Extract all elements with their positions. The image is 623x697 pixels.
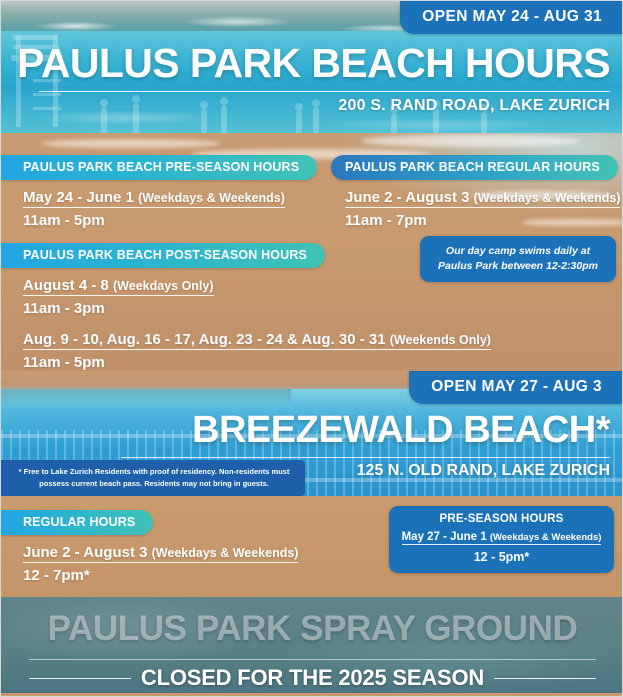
- paulus-preseason-block: PAULUS PARK BEACH PRE-SEASON HOURS May 2…: [1, 155, 317, 229]
- spray-ground-section: PAULUS PARK SPRAY GROUND CLOSED FOR THE …: [1, 597, 623, 697]
- paulus-regular-block: PAULUS PARK BEACH REGULAR HOURS June 2 -…: [331, 155, 620, 229]
- paulus-regular-pill: PAULUS PARK BEACH REGULAR HOURS: [331, 155, 618, 180]
- breezewald-hours-body: REGULAR HOURS June 2 - August 3 (Weekday…: [1, 496, 623, 597]
- breezewald-title-divider: [121, 457, 610, 458]
- paulus-postseason-block: PAULUS PARK BEACH POST-SEASON HOURS Augu…: [1, 243, 491, 371]
- breezewald-preseason-dates: May 27 - June 1 (Weekdays & Weekends): [402, 531, 602, 545]
- breezewald-treeline: [1, 389, 291, 405]
- paulus-postseason-date-range-1: August 4 - 8: [23, 277, 113, 294]
- paulus-postseason-dates-2: Aug. 9 - 10, Aug. 16 - 17, Aug. 23 - 24 …: [23, 331, 491, 350]
- paulus-page-title: PAULUS PARK BEACH HOURS: [1, 43, 610, 84]
- spray-dash-left: [29, 678, 131, 679]
- paulus-open-dates-badge: OPEN MAY 24 - AUG 31: [400, 1, 623, 34]
- breezewald-preseason-box: PRE-SEASON HOURS May 27 - June 1 (Weekda…: [389, 506, 614, 573]
- paulus-regular-days: (Weekdays & Weekends): [474, 191, 621, 205]
- breezewald-preseason-time: 12 - 5pm*: [399, 550, 604, 564]
- spray-ground-status-row: CLOSED FOR THE 2025 SEASON: [1, 665, 623, 691]
- breezewald-regular-pill: REGULAR HOURS: [1, 510, 153, 535]
- paulus-preseason-dates: May 24 - June 1 (Weekdays & Weekends): [23, 189, 285, 208]
- breezewald-residency-footnote: * Free to Lake Zurich Residents with pro…: [1, 460, 305, 496]
- paulus-postseason-dates-1: August 4 - 8 (Weekdays Only): [23, 277, 214, 296]
- spray-ground-title: PAULUS PARK SPRAY GROUND: [1, 611, 623, 646]
- breezewald-hero: OPEN MAY 27 - AUG 3 BREEZEWALD BEACH* 12…: [1, 371, 623, 496]
- breezewald-regular-days: (Weekdays & Weekends): [152, 546, 299, 560]
- breezewald-preseason-title: PRE-SEASON HOURS: [399, 513, 604, 525]
- breezewald-regular-time: 12 - 7pm*: [23, 567, 298, 584]
- spray-ground-divider: [29, 659, 596, 660]
- paulus-park-hours-body: PAULUS PARK BEACH PRE-SEASON HOURS May 2…: [1, 133, 623, 371]
- paulus-postseason-days-2: (Weekends Only): [390, 333, 491, 347]
- breezewald-regular-dates: June 2 - August 3 (Weekdays & Weekends): [23, 544, 298, 563]
- paulus-postseason-pill: PAULUS PARK BEACH POST-SEASON HOURS: [1, 243, 325, 268]
- poster-bottom-strip: [1, 693, 623, 697]
- paulus-postseason-date-range-2: Aug. 9 - 10, Aug. 16 - 17, Aug. 23 - 24 …: [23, 331, 390, 348]
- breezewald-regular-block: REGULAR HOURS June 2 - August 3 (Weekday…: [1, 510, 298, 584]
- paulus-preseason-days: (Weekdays & Weekends): [138, 191, 285, 205]
- paulus-preseason-time: 11am - 5pm: [23, 212, 317, 229]
- paulus-park-hero: OPEN MAY 24 - AUG 31 PAULUS PARK BEACH H…: [1, 1, 623, 133]
- breezewald-preseason-date-range: May 27 - June 1: [402, 531, 490, 543]
- breezewald-regular-date-range: June 2 - August 3: [23, 544, 152, 561]
- breezewald-open-dates-badge: OPEN MAY 27 - AUG 3: [409, 371, 623, 404]
- breezewald-address: 125 N. OLD RAND, LAKE ZURICH: [357, 462, 610, 480]
- paulus-preseason-pill: PAULUS PARK BEACH PRE-SEASON HOURS: [1, 155, 317, 180]
- paulus-postseason-time-1: 11am - 3pm: [23, 300, 491, 317]
- spray-ground-status: CLOSED FOR THE 2025 SEASON: [141, 665, 484, 691]
- paulus-address: 200 S. RAND ROAD, LAKE ZURICH: [338, 97, 610, 115]
- paulus-regular-time: 11am - 7pm: [345, 212, 620, 229]
- beach-hours-poster: OPEN MAY 24 - AUG 31 PAULUS PARK BEACH H…: [0, 0, 623, 697]
- paulus-regular-date-range: June 2 - August 3: [345, 189, 474, 206]
- paulus-preseason-date-range: May 24 - June 1: [23, 189, 138, 206]
- title-divider: [39, 91, 610, 92]
- breezewald-preseason-days: (Weekdays & Weekends): [490, 532, 602, 543]
- paulus-regular-dates: June 2 - August 3 (Weekdays & Weekends): [345, 189, 620, 208]
- spray-dash-right: [494, 678, 596, 679]
- breezewald-title: BREEZEWALD BEACH*: [1, 411, 610, 449]
- paulus-postseason-days-1: (Weekdays Only): [113, 279, 214, 293]
- paulus-postseason-time-2: 11am - 5pm: [23, 354, 491, 371]
